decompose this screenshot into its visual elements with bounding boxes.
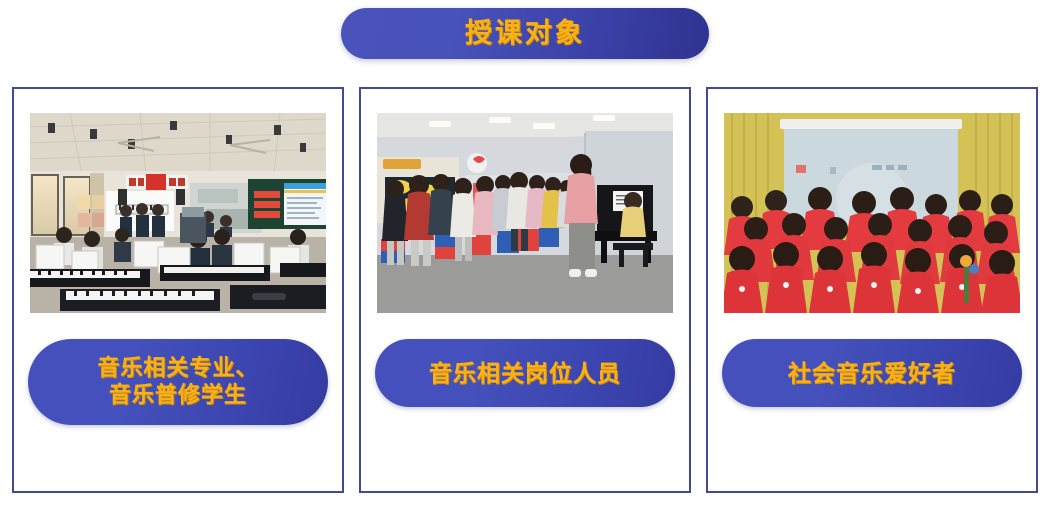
piano-classroom-photo — [30, 113, 326, 313]
audience-card-3[interactable]: 社会音乐爱好者 — [706, 87, 1038, 493]
audience-label-2: 音乐相关岗位人员 — [429, 359, 621, 387]
page-title: 授课对象 — [465, 20, 585, 47]
audience-label-1: 音乐相关专业、 音乐普修学生 — [97, 355, 258, 409]
slide-root: 授课对象 — [0, 0, 1050, 505]
community-choir-photo — [724, 113, 1020, 313]
header-title-row: 授课对象 — [0, 8, 1050, 59]
cards-row: 音乐相关专业、 音乐普修学生 — [12, 87, 1038, 493]
page-title-pill: 授课对象 — [341, 8, 709, 59]
audience-card-1[interactable]: 音乐相关专业、 音乐普修学生 — [12, 87, 344, 493]
audience-card-2[interactable]: 音乐相关岗位人员 — [359, 87, 691, 493]
audience-label-pill-1: 音乐相关专业、 音乐普修学生 — [28, 339, 328, 425]
audience-label-pill-2: 音乐相关岗位人员 — [375, 339, 675, 407]
audience-label-3: 社会音乐爱好者 — [788, 359, 956, 387]
audience-label-pill-3: 社会音乐爱好者 — [722, 339, 1022, 407]
childrens-choir-photo — [377, 113, 673, 313]
